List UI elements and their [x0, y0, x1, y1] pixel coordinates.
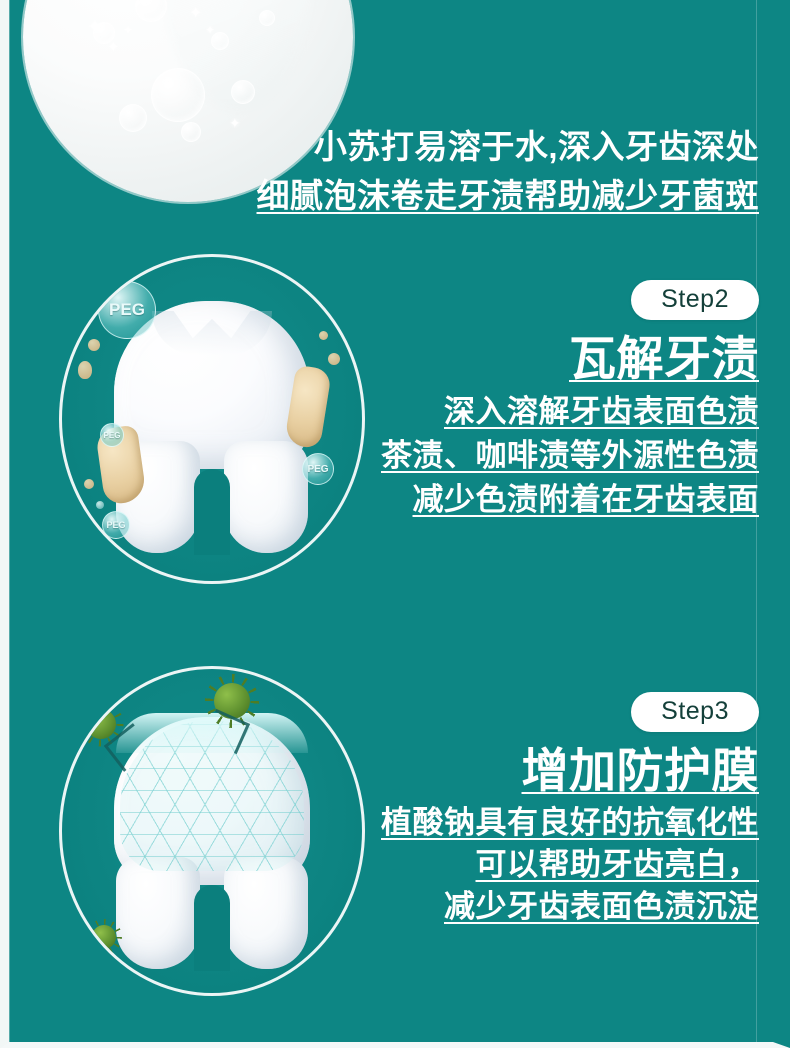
sparkle-icon: ✦ [205, 24, 215, 36]
tooth-icon [114, 301, 310, 551]
tooth-root-cleft [194, 469, 230, 555]
bubble-icon [231, 80, 255, 104]
tooth-root-cleft [194, 885, 230, 971]
peg-bubble: PEG [302, 453, 334, 485]
sparkle-icon: ✦ [189, 6, 202, 22]
step3-line-2: 可以帮助牙齿亮白， [381, 844, 759, 886]
stain-particle [84, 479, 94, 489]
bubble-icon [181, 122, 201, 142]
headline-line-2: 细腻泡沫卷走牙渍帮助减少牙菌斑 [257, 170, 760, 222]
sparkle-icon: ✦ [229, 116, 241, 130]
bubble-icon [119, 104, 147, 132]
peg-bubble: PEG [98, 281, 156, 339]
step2-illustration: PEG PEG PEG PEG [59, 254, 365, 584]
germ-icon [86, 709, 116, 739]
step2-line-3: 减少色渍附着在牙齿表面 [381, 478, 759, 522]
bubble-icon [259, 10, 275, 26]
step3-line-3: 减少牙齿表面色渍沉淀 [381, 886, 759, 928]
tooth-root-right [224, 441, 308, 553]
sparkle-icon: ✦ [53, 0, 62, 3]
peg-bubble-label: PEG [307, 464, 328, 475]
peg-bubble-label: PEG [104, 431, 121, 440]
step2-title: 瓦解牙渍 [381, 328, 759, 390]
bubble-icon [135, 0, 167, 22]
tooth-root-left [116, 857, 200, 969]
peg-bubble: PEG [102, 511, 130, 539]
stain-particle [78, 361, 92, 379]
stain-particle [319, 331, 328, 340]
tooth-root-right [224, 857, 308, 969]
headline-line-1: 小苏打易溶于水,深入牙齿深处 [257, 124, 760, 170]
step2-line-2: 茶渍、咖啡渍等外源性色渍 [381, 434, 759, 478]
section-one-headline: 小苏打易溶于水,深入牙齿深处 细腻泡沫卷走牙渍帮助减少牙菌斑 [257, 124, 760, 222]
step2-line-1: 深入溶解牙齿表面色渍 [381, 390, 759, 434]
germ-icon [92, 925, 116, 949]
sparkle-icon: ✦ [107, 40, 120, 55]
step3-text-block: Step3 增加防护膜 植酸钠具有良好的抗氧化性 可以帮助牙齿亮白， 减少牙齿表… [381, 692, 759, 928]
peg-bubble: PEG [100, 423, 124, 447]
step3-title: 增加防护膜 [381, 740, 759, 802]
peg-bubble-label: PEG [109, 300, 145, 320]
step3-line-1: 植酸钠具有良好的抗氧化性 [381, 802, 759, 844]
sparkle-icon: ✦ [123, 24, 133, 36]
bubble-icon [151, 68, 205, 122]
bubble-particle [96, 501, 104, 509]
step2-text-block: Step2 瓦解牙渍 深入溶解牙齿表面色渍 茶渍、咖啡渍等外源性色渍 减少色渍附… [381, 280, 759, 522]
stain-particle [328, 353, 340, 365]
step3-badge: Step3 [631, 692, 759, 732]
sparkle-icon: ✦ [87, 18, 103, 37]
step2-badge: Step2 [631, 280, 759, 320]
stain-particle [88, 339, 100, 351]
product-detail-page: ✦ ✦ ✦ ✦ ✦ ✦ ✦ ✦ ✦ ✦ ✦ 小苏打易溶于水,深入牙齿深处 细腻泡… [0, 0, 790, 1048]
left-edge-rule [9, 0, 10, 1048]
peg-bubble-label: PEG [106, 520, 125, 530]
step3-illustration [59, 666, 365, 996]
